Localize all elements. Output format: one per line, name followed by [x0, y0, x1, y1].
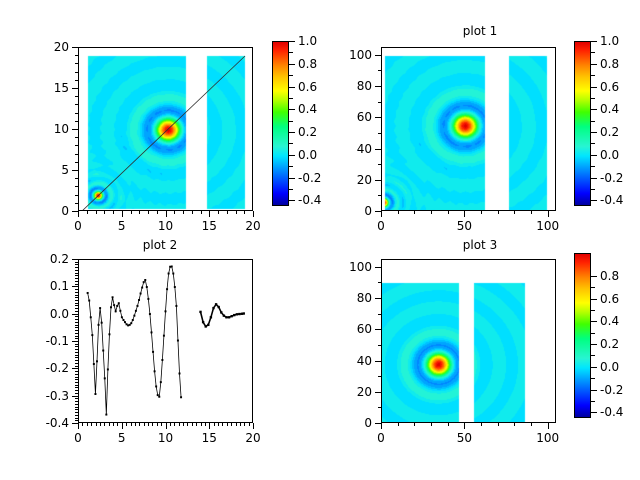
minor-tick-y: [75, 284, 78, 285]
data-point-marker: [133, 315, 135, 317]
minor-tick-y: [75, 137, 78, 138]
minor-tick-y: [75, 393, 78, 394]
minor-tick-x: [218, 423, 219, 426]
y-tick-label: 100: [327, 49, 372, 61]
data-point-marker: [179, 372, 181, 374]
major-tick-y: [375, 149, 381, 150]
data-point-marker: [207, 324, 209, 326]
heatmap-canvas-plot-3: [382, 260, 556, 423]
y-tick-label: 0.1: [24, 280, 69, 292]
colorbar-tick: [289, 155, 295, 156]
data-point-marker: [136, 305, 138, 307]
major-tick-y: [375, 298, 381, 299]
major-tick-y: [72, 423, 78, 424]
data-point-marker: [110, 306, 112, 308]
minor-tick-y: [75, 264, 78, 265]
data-point-marker: [96, 360, 98, 362]
major-tick-y: [72, 341, 78, 342]
minor-tick-y: [75, 72, 78, 73]
data-point-marker: [154, 370, 156, 372]
axes-plot-3: [381, 259, 556, 423]
axes-top-left: [78, 47, 253, 211]
minor-tick-x: [148, 211, 149, 214]
colorbar-tick: [591, 344, 597, 345]
colorbar-minor-tick: [591, 52, 595, 53]
minor-tick-x: [414, 423, 415, 426]
minor-tick-x: [514, 211, 515, 214]
minor-tick-y: [75, 292, 78, 293]
heatmap-canvas-top-left: [79, 48, 253, 211]
minor-tick-y: [378, 282, 381, 283]
y-tick-label: 20: [327, 386, 372, 398]
data-point-marker: [171, 265, 173, 267]
y-tick-label: 100: [327, 261, 372, 273]
minor-tick-y: [75, 357, 78, 358]
minor-tick-x: [398, 211, 399, 214]
colorbar-tick: [289, 87, 295, 88]
minor-tick-y: [75, 178, 78, 179]
y-tick-label: 60: [327, 111, 372, 123]
minor-tick-x: [514, 423, 515, 426]
data-point-marker: [116, 305, 118, 307]
minor-tick-y: [75, 195, 78, 196]
major-tick-y: [72, 170, 78, 171]
x-tick-label: 0: [56, 220, 100, 232]
major-tick-y: [375, 361, 381, 362]
minor-tick-x: [236, 423, 237, 426]
minor-tick-x: [187, 423, 188, 426]
major-tick-x: [209, 211, 210, 217]
major-tick-x: [78, 211, 79, 217]
minor-tick-y: [75, 308, 78, 309]
minor-tick-y: [378, 314, 381, 315]
minor-tick-y: [75, 319, 78, 320]
minor-tick-y: [75, 63, 78, 64]
data-point-marker: [160, 381, 162, 383]
minor-tick-y: [378, 195, 381, 196]
y-tick-label: 0.2: [24, 253, 69, 265]
data-point-marker: [161, 359, 163, 361]
colorbar-minor-tick: [289, 75, 293, 76]
minor-tick-x: [170, 423, 171, 426]
y-tick-label: 0: [327, 417, 372, 429]
minor-tick-x: [148, 423, 149, 426]
colorbar-minor-tick: [289, 143, 293, 144]
data-point-marker: [99, 307, 101, 309]
colorbar-tick: [591, 87, 597, 88]
major-tick-x: [209, 423, 210, 429]
minor-tick-y: [75, 360, 78, 361]
minor-tick-y: [75, 401, 78, 402]
x-tick-label: 100: [526, 432, 570, 444]
minor-tick-y: [75, 316, 78, 317]
minor-tick-x: [113, 423, 114, 426]
colorbar-tick: [591, 64, 597, 65]
data-point-marker: [236, 313, 238, 315]
minor-tick-y: [75, 336, 78, 337]
colorbar-minor-tick: [289, 98, 293, 99]
minor-tick-x: [139, 211, 140, 214]
major-tick-y: [72, 88, 78, 89]
y-tick-label: 80: [327, 80, 372, 92]
colorbar-tick: [591, 412, 597, 413]
major-tick-y: [375, 392, 381, 393]
minor-tick-x: [498, 211, 499, 214]
minor-tick-x: [96, 423, 97, 426]
y-tick-label: -0.2: [24, 362, 69, 374]
data-point-marker: [230, 315, 232, 317]
colorbar-minor-tick: [591, 333, 595, 334]
minor-tick-x: [117, 423, 118, 426]
minor-tick-y: [75, 278, 78, 279]
minor-tick-y: [378, 376, 381, 377]
major-tick-x: [548, 211, 549, 217]
major-tick-y: [72, 129, 78, 130]
data-point-marker: [119, 310, 121, 312]
minor-tick-y: [75, 371, 78, 372]
minor-tick-y: [75, 203, 78, 204]
minor-tick-x: [244, 211, 245, 214]
minor-tick-x: [481, 211, 482, 214]
colorbar-tick-label: -0.4: [600, 194, 640, 206]
data-point-marker: [140, 293, 142, 295]
x-tick-label: 20: [231, 220, 275, 232]
minor-tick-x: [157, 423, 158, 426]
colorbar-minor-tick: [289, 121, 293, 122]
minor-tick-x: [131, 423, 132, 426]
minor-tick-y: [378, 102, 381, 103]
colorbar-minor-tick: [591, 98, 595, 99]
minor-tick-y: [75, 387, 78, 388]
colorbar-minor-tick: [591, 287, 595, 288]
minor-tick-y: [75, 330, 78, 331]
colorbar-minor-tick: [591, 189, 595, 190]
minor-tick-x: [249, 423, 250, 426]
colorbar-tick: [591, 155, 597, 156]
data-point-marker: [165, 310, 167, 312]
minor-tick-x: [135, 423, 136, 426]
minor-tick-x: [240, 423, 241, 426]
major-tick-x: [166, 423, 167, 429]
minor-tick-x: [87, 423, 88, 426]
minor-tick-x: [448, 211, 449, 214]
y-tick-label: 5: [24, 164, 69, 176]
major-tick-x: [381, 423, 382, 429]
minor-tick-x: [82, 423, 83, 426]
data-point-marker: [121, 316, 123, 318]
data-point-marker: [199, 311, 201, 313]
major-tick-y: [72, 314, 78, 315]
minor-tick-y: [75, 327, 78, 328]
heatmap-canvas-plot-1: [382, 48, 556, 211]
minor-tick-x: [157, 211, 158, 214]
minor-tick-y: [75, 412, 78, 413]
x-tick-label: 5: [100, 432, 144, 444]
colorbar-tick-label: 0.6: [600, 293, 640, 305]
data-point-marker: [112, 296, 114, 298]
colorbar-minor-tick: [289, 189, 293, 190]
minor-tick-x: [201, 211, 202, 214]
major-tick-y: [375, 267, 381, 268]
major-tick-y: [375, 211, 381, 212]
minor-tick-x: [448, 423, 449, 426]
minor-tick-x: [139, 423, 140, 426]
minor-tick-x: [104, 211, 105, 214]
data-point-marker: [202, 321, 204, 323]
minor-tick-y: [75, 145, 78, 146]
subplot-top-left: 0510152005101520 -0.4-0.20.00.20.40.60.8…: [0, 0, 320, 240]
major-tick-x: [253, 211, 254, 217]
major-tick-y: [375, 117, 381, 118]
major-tick-y: [375, 180, 381, 181]
y-tick-label: 60: [327, 323, 372, 335]
colorbar-minor-tick: [591, 401, 595, 402]
major-tick-x: [166, 211, 167, 217]
minor-tick-y: [75, 390, 78, 391]
subplot-bottom-right: plot 3 050100020406080100 -0.4-0.20.00.2…: [320, 240, 640, 480]
data-point-marker: [149, 313, 151, 315]
minor-tick-x: [227, 211, 228, 214]
data-point-marker: [104, 377, 106, 379]
minor-tick-y: [75, 420, 78, 421]
minor-tick-y: [75, 418, 78, 419]
colorbar-tick-label: 0.8: [600, 58, 640, 70]
colorbar-tick: [289, 200, 295, 201]
x-tick-label: 10: [144, 220, 188, 232]
minor-tick-y: [75, 407, 78, 408]
data-point-marker: [177, 340, 179, 342]
data-point-marker: [107, 368, 109, 370]
subplot-title-plot-3: plot 3: [320, 238, 640, 252]
x-tick-label: 10: [144, 432, 188, 444]
colorbar-tick: [591, 178, 597, 179]
minor-tick-y: [75, 415, 78, 416]
minor-tick-y: [75, 162, 78, 163]
major-tick-x: [253, 423, 254, 429]
minor-tick-x: [192, 211, 193, 214]
y-tick-label: 0: [327, 205, 372, 217]
minor-tick-y: [75, 104, 78, 105]
data-point-marker: [101, 322, 103, 324]
y-tick-label: 10: [24, 123, 69, 135]
minor-tick-x: [179, 423, 180, 426]
colorbar-gradient: [575, 254, 590, 417]
data-point-marker: [105, 414, 107, 416]
major-tick-x: [548, 423, 549, 429]
minor-tick-y: [75, 270, 78, 271]
minor-tick-x: [192, 423, 193, 426]
data-point-marker: [243, 312, 245, 314]
data-point-marker: [143, 281, 145, 283]
colorbar-tick: [591, 321, 597, 322]
x-tick-label: 50: [442, 432, 486, 444]
x-tick-label: 15: [187, 432, 231, 444]
minor-tick-y: [75, 363, 78, 364]
data-point-marker: [122, 319, 124, 321]
data-point-marker: [102, 350, 104, 352]
colorbar-tick: [591, 109, 597, 110]
data-point-marker: [238, 313, 240, 315]
minor-tick-x: [201, 423, 202, 426]
minor-tick-y: [75, 303, 78, 304]
data-point-marker: [225, 316, 227, 318]
data-point-marker: [150, 331, 152, 333]
major-tick-x: [464, 211, 465, 217]
minor-tick-y: [75, 281, 78, 282]
data-point-marker: [87, 292, 89, 294]
colorbar-minor-tick: [591, 121, 595, 122]
major-tick-x: [122, 423, 123, 429]
data-point-marker: [220, 311, 222, 313]
y-tick-label: -0.1: [24, 335, 69, 347]
y-tick-label: 40: [327, 355, 372, 367]
minor-tick-x: [113, 211, 114, 214]
minor-tick-x: [100, 423, 101, 426]
colorbar-tick-label: 0.2: [600, 338, 640, 350]
data-point-marker: [175, 305, 177, 307]
x-tick-label: 0: [359, 220, 403, 232]
minor-tick-x: [126, 423, 127, 426]
colorbar-tick: [591, 200, 597, 201]
minor-tick-y: [378, 345, 381, 346]
colorbar-tick-label: 0.4: [600, 103, 640, 115]
minor-tick-y: [75, 289, 78, 290]
minor-tick-y: [75, 355, 78, 356]
line-series-plot-2: [79, 260, 252, 422]
minor-tick-y: [75, 305, 78, 306]
subplot-top-right: plot 1 050100020406080100 -0.4-0.20.00.2…: [320, 0, 640, 240]
y-tick-label: 40: [327, 143, 372, 155]
colorbar-tick-label: 0.2: [600, 126, 640, 138]
major-tick-y: [72, 396, 78, 397]
minor-tick-x: [218, 211, 219, 214]
minor-tick-x: [498, 423, 499, 426]
y-tick-label: 15: [24, 82, 69, 94]
minor-tick-y: [75, 267, 78, 268]
colorbar-tick-label: -0.2: [600, 384, 640, 396]
minor-tick-y: [378, 164, 381, 165]
data-point-marker: [215, 303, 217, 305]
data-point-marker: [138, 299, 140, 301]
data-point-marker: [90, 316, 92, 318]
minor-tick-y: [75, 322, 78, 323]
data-point-marker: [228, 316, 230, 318]
data-point-marker: [212, 307, 214, 309]
minor-tick-x: [231, 423, 232, 426]
y-tick-label: 80: [327, 292, 372, 304]
minor-tick-x: [531, 211, 532, 214]
major-tick-y: [375, 329, 381, 330]
data-point-marker: [223, 314, 225, 316]
minor-tick-y: [75, 300, 78, 301]
minor-tick-x: [87, 211, 88, 214]
minor-tick-x: [214, 423, 215, 426]
data-point-marker: [115, 310, 117, 312]
minor-tick-x: [174, 211, 175, 214]
minor-tick-x: [414, 211, 415, 214]
data-point-marker: [130, 322, 132, 324]
colorbar-minor-tick: [289, 52, 293, 53]
colorbar-tick: [289, 178, 295, 179]
data-point-marker: [124, 321, 126, 323]
major-tick-x: [381, 211, 382, 217]
data-point-marker: [205, 325, 207, 327]
minor-tick-x: [183, 211, 184, 214]
x-tick-label: 50: [442, 220, 486, 232]
colorbar-top-left: [272, 41, 289, 206]
x-tick-label: 100: [526, 220, 570, 232]
minor-tick-y: [75, 398, 78, 399]
minor-tick-x: [431, 423, 432, 426]
colorbar-tick-label: 1.0: [600, 35, 640, 47]
colorbar-tick: [591, 367, 597, 368]
minor-tick-x: [398, 423, 399, 426]
colorbar-minor-tick: [591, 75, 595, 76]
figure-canvas: 0510152005101520 -0.4-0.20.00.20.40.60.8…: [0, 0, 640, 480]
minor-tick-x: [431, 211, 432, 214]
y-tick-label: -0.4: [24, 417, 69, 429]
minor-tick-x: [131, 211, 132, 214]
minor-tick-y: [75, 382, 78, 383]
major-tick-y: [72, 259, 78, 260]
colorbar-tick: [591, 41, 597, 42]
data-point-marker: [94, 393, 96, 395]
colorbar-tick-label: 0.0: [600, 361, 640, 373]
y-tick-label: -0.3: [24, 390, 69, 402]
subplot-title-plot-1: plot 1: [320, 24, 640, 38]
data-point-marker: [172, 273, 174, 275]
data-point-marker: [168, 273, 170, 275]
colorbar-plot-3: [574, 253, 591, 418]
major-tick-x: [78, 423, 79, 429]
data-point-marker: [141, 287, 143, 289]
colorbar-tick-label: 0.0: [600, 149, 640, 161]
minor-tick-x: [152, 423, 153, 426]
data-point-marker: [158, 396, 160, 398]
minor-tick-y: [75, 55, 78, 56]
minor-tick-y: [75, 374, 78, 375]
minor-tick-x: [196, 423, 197, 426]
data-point-marker: [113, 304, 115, 306]
y-tick-label: 0: [24, 205, 69, 217]
data-point-marker: [88, 300, 90, 302]
colorbar-tick-label: 0.4: [600, 315, 640, 327]
x-tick-label: 5: [100, 220, 144, 232]
subplot-bottom-left: plot 2 05101520-0.4-0.3-0.2-0.10.00.10.2: [0, 240, 320, 480]
minor-tick-y: [75, 275, 78, 276]
colorbar-minor-tick: [591, 355, 595, 356]
x-tick-label: 0: [56, 432, 100, 444]
colorbar-plot-1: [574, 41, 591, 206]
subplot-title-plot-2: plot 2: [0, 238, 320, 252]
colorbar-minor-tick: [591, 378, 595, 379]
data-point-marker: [108, 333, 110, 335]
minor-tick-y: [75, 186, 78, 187]
minor-tick-x: [91, 423, 92, 426]
major-tick-y: [375, 55, 381, 56]
major-tick-y: [375, 86, 381, 87]
minor-tick-y: [75, 366, 78, 367]
minor-tick-y: [75, 80, 78, 81]
minor-tick-y: [75, 333, 78, 334]
colorbar-tick: [591, 132, 597, 133]
data-point-marker: [98, 324, 100, 326]
minor-tick-y: [75, 121, 78, 122]
major-tick-y: [72, 211, 78, 212]
minor-tick-y: [75, 379, 78, 380]
minor-tick-x: [161, 423, 162, 426]
y-tick-label: 20: [24, 41, 69, 53]
